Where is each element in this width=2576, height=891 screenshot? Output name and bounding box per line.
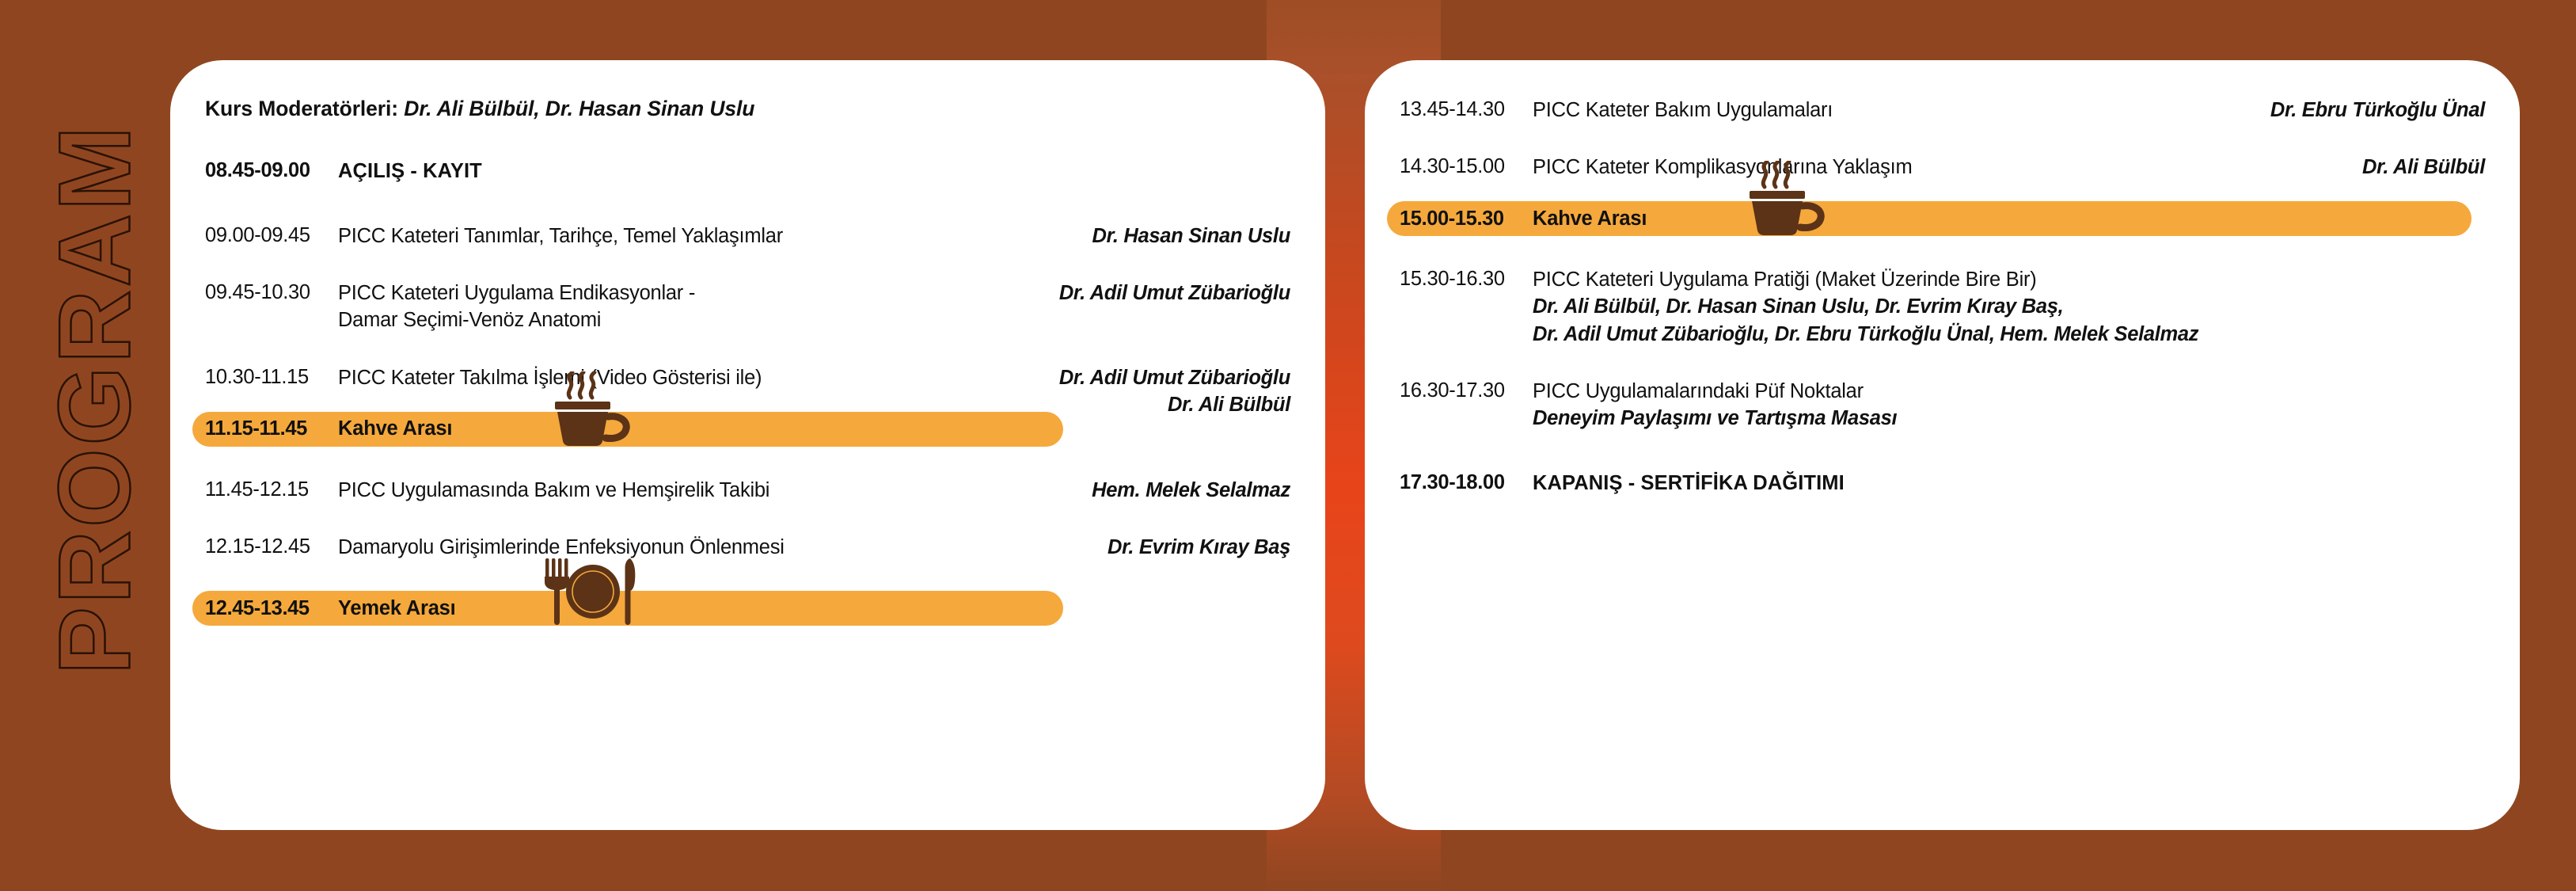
row-title: KAPANIŞ - SERTİFİKA DAĞITIMI: [1533, 470, 2485, 497]
row-title: PICC Kateter Komplikasyonlarına Yaklaşım: [1533, 154, 2485, 181]
row-speaker: Dr. Hasan Sinan Uslu: [1092, 223, 1291, 249]
break-time: 11.15-11.45: [205, 417, 338, 440]
row-title-line2: Damar Seçimi-Venöz Anatomi: [338, 307, 1290, 333]
spacer: [205, 524, 1290, 534]
row-body: PICC Kateter Komplikasyonlarına Yaklaşım…: [1533, 154, 2485, 181]
schedule-rows-morning: Kurs Moderatörleri: Dr. Ali Bülbül, Dr. …: [205, 97, 1290, 626]
row-faculty-line2: Dr. Adil Umut Zübarioğlu, Dr. Ebru Türko…: [1533, 321, 2485, 348]
row-time: 09.00-09.45: [205, 223, 338, 249]
row-speaker: Dr. Adil Umut Zübarioğlu: [1059, 280, 1290, 307]
row-body: PICC Uygulamasında Bakım ve Hemşirelik T…: [338, 477, 1290, 504]
row-time: 09.45-10.30: [205, 280, 338, 307]
row-body: KAPANIŞ - SERTİFİKA DAĞITIMI: [1533, 470, 2485, 497]
spacer: [205, 467, 1290, 477]
spacer: [205, 355, 1290, 364]
schedule-row: 16.30-17.30 PICC Uygulamalarındaki Püf N…: [1400, 378, 2485, 432]
row-time: 11.45-12.15: [205, 477, 338, 504]
row-body: PICC Uygulamalarındaki Püf Noktalar Dene…: [1533, 378, 2485, 432]
break-time: 15.00-15.30: [1400, 208, 1533, 230]
schedule-row: 11.45-12.15 PICC Uygulamasında Bakım ve …: [205, 477, 1290, 504]
schedule-card-afternoon: 13.45-14.30 PICC Kateter Bakım Uygulamal…: [1365, 60, 2520, 830]
spacer: [1400, 368, 2485, 378]
row-time: 13.45-14.30: [1400, 97, 1533, 124]
row-body: PICC Kateteri Uygulama Endikasyonlar - D…: [338, 280, 1290, 333]
spacer: [1400, 257, 2485, 266]
schedule-row: 12.15-12.45 Damaryolu Girişimlerinde Enf…: [205, 534, 1290, 561]
spacer: [1400, 144, 2485, 154]
course-moderators: Kurs Moderatörleri: Dr. Ali Bülbül, Dr. …: [205, 97, 1290, 121]
row-time: 15.30-16.30: [1400, 266, 1533, 293]
break-label: Kahve Arası: [1533, 208, 1647, 230]
row-time: 16.30-17.30: [1400, 378, 1533, 405]
schedule-row: 08.45-09.00 AÇILIŞ - KAYIT: [205, 158, 1290, 185]
row-speaker: Hem. Melek Selalmaz: [1092, 477, 1290, 504]
row-title: AÇILIŞ - KAYIT: [338, 158, 1290, 185]
break-row-coffee: 15.00-15.30 Kahve Arası: [1400, 201, 2485, 236]
row-time: 17.30-18.00: [1400, 470, 1533, 497]
break-label: Kahve Arası: [338, 417, 452, 440]
row-time: 08.45-09.00: [205, 158, 338, 185]
page-side-title: PROGRAM: [37, 98, 154, 700]
row-speaker: Dr. Evrim Kıray Baş: [1108, 534, 1290, 561]
row-title-line1: PICC Kateteri Uygulama Endikasyonlar -: [338, 282, 695, 304]
row-speaker: Dr. Ali Bülbül: [2362, 154, 2485, 181]
schedule-row: 14.30-15.00 PICC Kateter Komplikasyonlar…: [1400, 154, 2485, 181]
schedule-row: 10.30-11.15 PICC Kateter Takılma İşlemi …: [205, 364, 1290, 391]
row-time: 14.30-15.00: [1400, 154, 1533, 181]
row-body: PICC Kateteri Uygulama Pratiği (Maket Üz…: [1533, 266, 2485, 347]
row-speaker: Dr. Adil Umut Zübarioğlu Dr. Ali Bülbül: [1059, 364, 1290, 418]
schedule-row: 09.45-10.30 PICC Kateteri Uygulama Endik…: [205, 280, 1290, 333]
spacer: [205, 270, 1290, 280]
row-body: PICC Kateter Takılma İşlemi (Video Göste…: [338, 364, 1290, 391]
schedule-row: 15.30-16.30 PICC Kateteri Uygulama Prati…: [1400, 266, 2485, 347]
schedule-rows-afternoon: 13.45-14.30 PICC Kateter Bakım Uygulamal…: [1400, 97, 2485, 497]
row-speaker: Dr. Ebru Türkoğlu Ünal: [2270, 97, 2485, 124]
moderators-names: Dr. Ali Bülbül, Dr. Hasan Sinan Uslu: [404, 97, 754, 120]
row-time: 12.15-12.45: [205, 534, 338, 561]
spacer: [205, 205, 1290, 223]
break-label: Yemek Arası: [338, 597, 456, 620]
break-bar-content: 12.45-13.45 Yemek Arası: [205, 591, 456, 626]
moderators-label: Kurs Moderatörleri:: [205, 97, 398, 120]
spacer: [1400, 452, 2485, 470]
schedule-row: 09.00-09.45 PICC Kateteri Tanımlar, Tari…: [205, 223, 1290, 249]
row-title: PICC Uygulamalarındaki Püf Noktalar: [1533, 378, 2485, 405]
break-time: 12.45-13.45: [205, 597, 338, 620]
row-faculty-list: Dr. Ali Bülbül, Dr. Hasan Sinan Uslu, Dr…: [1533, 293, 2485, 347]
break-row-lunch: 12.45-13.45 Yemek Arası: [205, 591, 1290, 626]
schedule-row: 13.45-14.30 PICC Kateter Bakım Uygulamal…: [1400, 97, 2485, 124]
break-bar-content: 15.00-15.30 Kahve Arası: [1400, 201, 1647, 236]
row-body: AÇILIŞ - KAYIT: [338, 158, 1290, 185]
row-title: PICC Kateteri Uygulama Pratiği (Maket Üz…: [1533, 266, 2485, 293]
program-page: PROGRAM Kurs Moderatörleri: Dr. Ali Bülb…: [0, 0, 2576, 891]
row-body: PICC Kateter Bakım Uygulamaları Dr. Ebru…: [1533, 97, 2485, 124]
row-faculty-line1: Dr. Ali Bülbül, Dr. Hasan Sinan Uslu, Dr…: [1533, 293, 2485, 320]
row-body: Damaryolu Girişimlerinde Enfeksiyonun Ön…: [338, 534, 1290, 561]
spacer: [205, 581, 1290, 591]
row-subnote: Deneyim Paylaşımı ve Tartışma Masası: [1533, 405, 2485, 432]
break-row-coffee: 11.15-11.45 Kahve Arası: [205, 412, 1290, 447]
row-speaker-line1: Dr. Adil Umut Zübarioğlu: [1059, 364, 1290, 391]
row-body: PICC Kateteri Tanımlar, Tarihçe, Temel Y…: [338, 223, 1290, 249]
schedule-row: 17.30-18.00 KAPANIŞ - SERTİFİKA DAĞITIMI: [1400, 470, 2485, 497]
row-time: 10.30-11.15: [205, 364, 338, 391]
schedule-card-morning: Kurs Moderatörleri: Dr. Ali Bülbül, Dr. …: [170, 60, 1325, 830]
break-bar-content: 11.15-11.45 Kahve Arası: [205, 412, 452, 447]
